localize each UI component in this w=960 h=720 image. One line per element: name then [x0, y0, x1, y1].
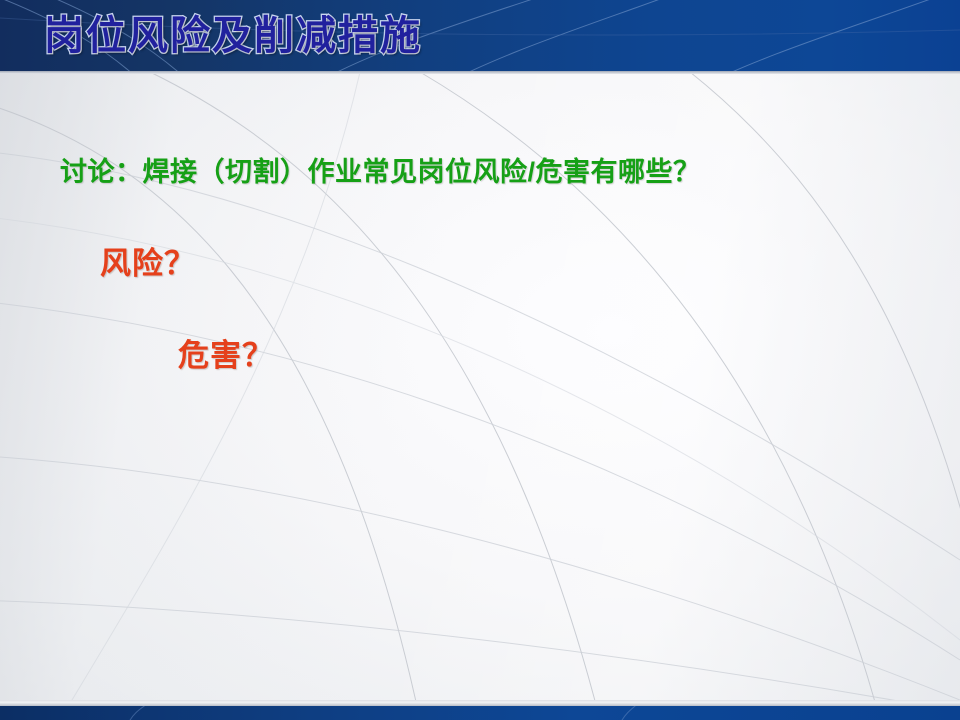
keyword-hazard: 危害？ [178, 330, 274, 375]
slide-header-bar: 岗位风险及削减措施 [0, 0, 960, 71]
discussion-question: 讨论：焊接（切割）作业常见岗位风险/危害有哪些？ [60, 150, 701, 189]
presentation-slide: 岗位风险及削减措施 讨论：焊接（切割）作业常见岗位风险/危害有哪些？ 风险？ 危… [0, 0, 960, 720]
slide-background-sheen [0, 0, 960, 720]
footer-line-decoration [0, 706, 960, 720]
keyword-risk: 风险？ [100, 238, 196, 283]
slide-footer-bar [0, 706, 960, 720]
header-underline [0, 71, 960, 74]
slide-title: 岗位风险及削减措施 [44, 10, 422, 62]
